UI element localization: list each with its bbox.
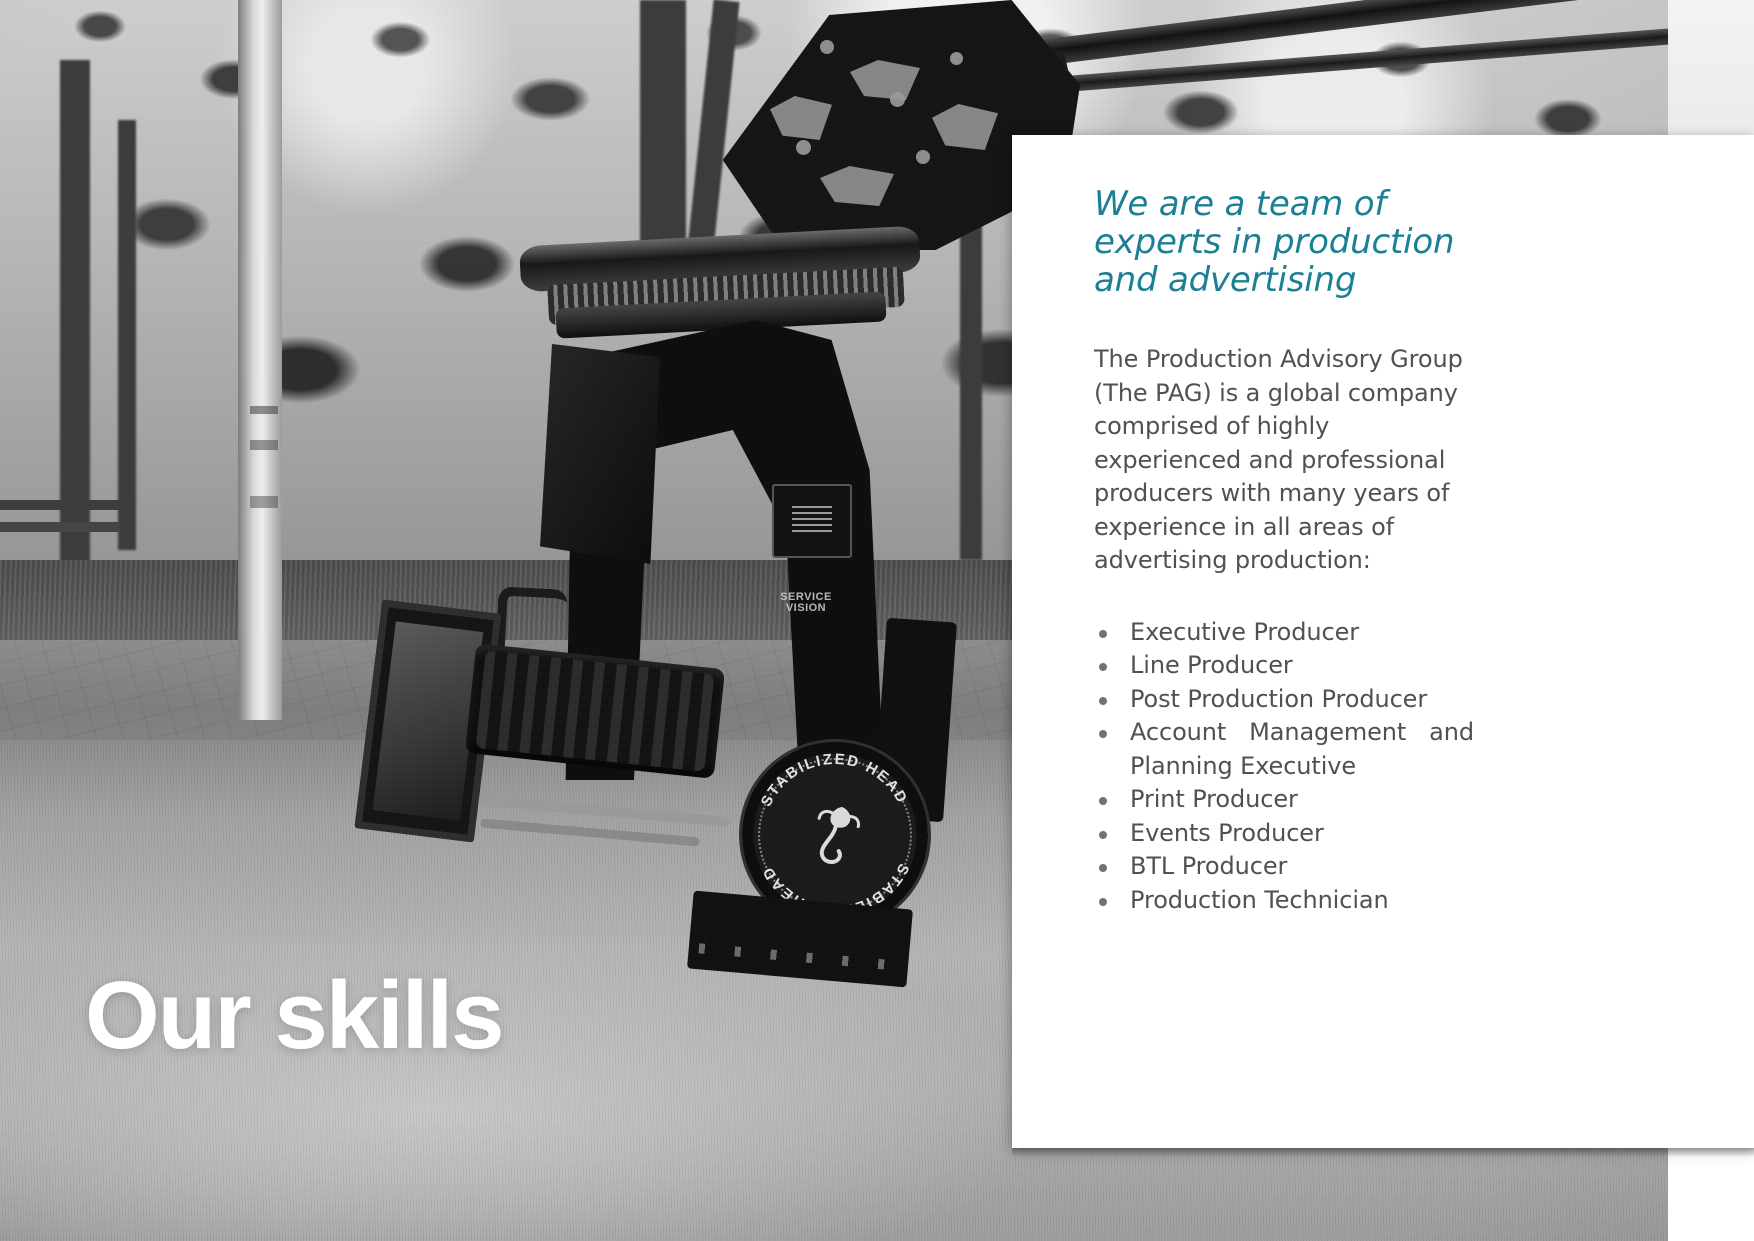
list-item-label: Executive Producer xyxy=(1130,618,1359,646)
bullet-icon xyxy=(1099,697,1107,705)
content-card-body: We are a team of experts in production a… xyxy=(1094,185,1474,917)
list-item: Post Production Producer xyxy=(1094,683,1474,717)
list-item: Executive Producer xyxy=(1094,616,1474,650)
bullet-icon xyxy=(1099,797,1107,805)
card-paragraph: The Production Advisory Group (The PAG) … xyxy=(1094,343,1474,578)
slide-root: SERVICE VISION STABILIZED HEAD STABILIZE… xyxy=(0,0,1754,1241)
skills-list: Executive Producer Line Producer Post Pr… xyxy=(1094,616,1474,918)
card-heading: We are a team of experts in production a… xyxy=(1094,185,1474,299)
list-item: Events Producer xyxy=(1094,817,1474,851)
bullet-icon xyxy=(1099,730,1107,738)
card-drop-shadow xyxy=(1012,1148,1754,1157)
bullet-icon xyxy=(1099,831,1107,839)
list-item-label: BTL Producer xyxy=(1130,852,1287,880)
list-item: Line Producer xyxy=(1094,649,1474,683)
bullet-icon xyxy=(1099,630,1107,638)
list-item: Print Producer xyxy=(1094,783,1474,817)
list-item: Account Management and Planning Executiv… xyxy=(1094,716,1474,783)
list-item: BTL Producer xyxy=(1094,850,1474,884)
list-item: Production Technician xyxy=(1094,884,1474,918)
page-title: Our skills xyxy=(85,964,503,1068)
list-item-label: Line Producer xyxy=(1130,651,1293,679)
list-item-label: Post Production Producer xyxy=(1130,685,1427,713)
bullet-icon xyxy=(1099,663,1107,671)
bullet-icon xyxy=(1099,898,1107,906)
bullet-icon xyxy=(1099,864,1107,872)
list-item-label: Production Technician xyxy=(1130,886,1389,914)
content-card: We are a team of experts in production a… xyxy=(1012,135,1754,1148)
list-item-label: Events Producer xyxy=(1130,819,1324,847)
list-item-label: Account Management and Planning Executiv… xyxy=(1130,716,1474,783)
list-item-label: Print Producer xyxy=(1130,785,1298,813)
